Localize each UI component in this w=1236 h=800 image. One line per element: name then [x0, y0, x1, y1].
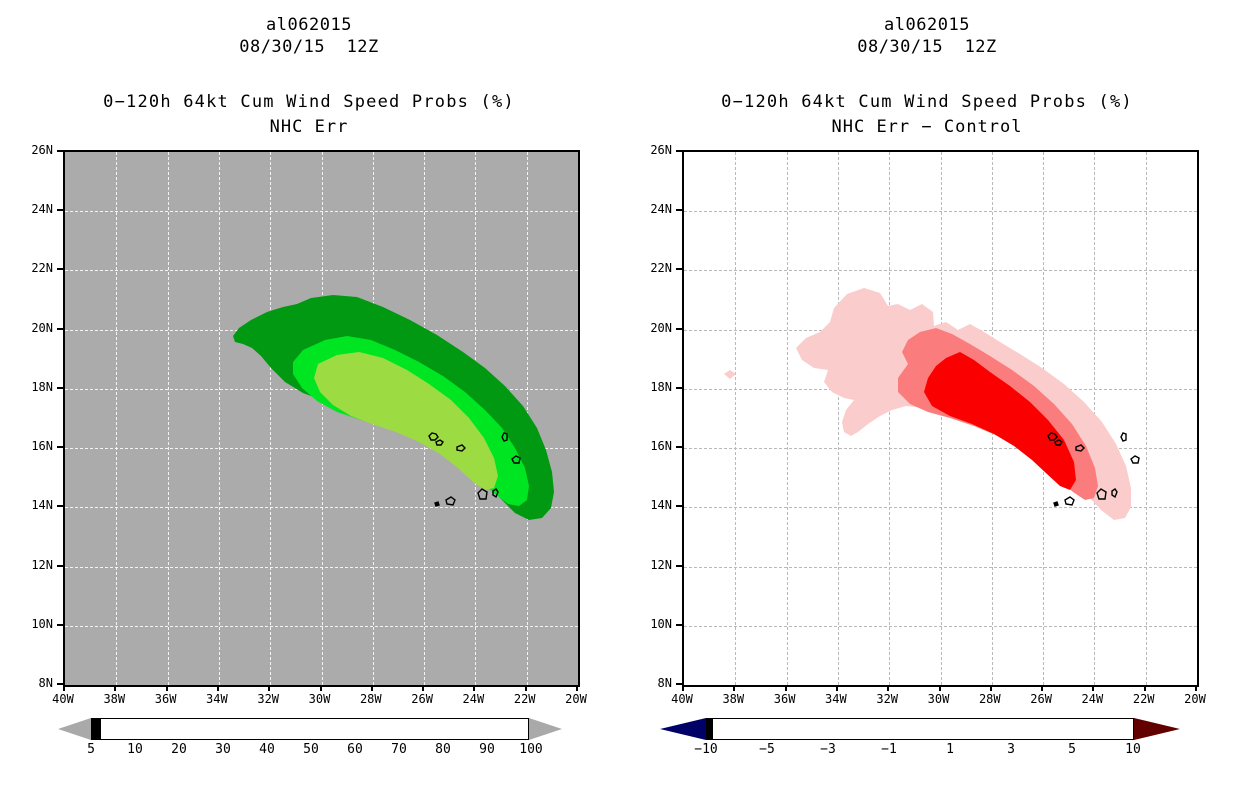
- tick-y: [676, 150, 682, 152]
- right-panel: al062015 08/30/15 12Z 0−120h 64kt Cum Wi…: [618, 0, 1236, 800]
- colorbar-tick-label: 70: [377, 742, 421, 757]
- difference-colorbar[interactable]: −10 −5 −3 −1 1 3 5 10: [654, 718, 1186, 764]
- tick-y: [57, 446, 63, 448]
- tick-x: [320, 685, 322, 691]
- y-tick-label: 10N: [13, 617, 53, 631]
- x-tick-label: 36W: [146, 692, 186, 706]
- left-panel-titles: al062015 08/30/15 12Z: [0, 14, 618, 58]
- tick-x: [166, 685, 168, 691]
- y-tick-label: 20N: [632, 321, 672, 335]
- y-tick-label: 10N: [632, 617, 672, 631]
- cape-verde-islands-outline: [65, 152, 578, 685]
- tick-x: [990, 685, 992, 691]
- tick-y: [676, 624, 682, 626]
- y-tick-label: 16N: [632, 439, 672, 453]
- colorbar-tick-label: 3: [989, 742, 1033, 757]
- tick-x: [887, 685, 889, 691]
- cape-verde-islands-outline: [684, 152, 1197, 685]
- left-sub-title: NHC Err: [0, 115, 618, 140]
- y-tick-label: 8N: [13, 676, 53, 690]
- right-datetime: 08/30/15 12Z: [618, 36, 1236, 58]
- tick-y: [57, 683, 63, 685]
- tick-y: [676, 209, 682, 211]
- x-tick-label: 34W: [197, 692, 237, 706]
- tick-x: [1092, 685, 1094, 691]
- y-tick-label: 26N: [632, 143, 672, 157]
- colorbar-tick-label: 40: [245, 742, 289, 757]
- colorbar-left-arrow: [660, 718, 706, 740]
- x-tick-label: 24W: [1072, 692, 1112, 706]
- x-tick-label: 30W: [300, 692, 340, 706]
- y-tick-label: 12N: [632, 558, 672, 572]
- tick-x: [836, 685, 838, 691]
- right-panel-heading: 0−120h 64kt Cum Wind Speed Probs (%) NHC…: [618, 90, 1236, 140]
- y-tick-label: 16N: [13, 439, 53, 453]
- x-tick-label: 26W: [402, 692, 442, 706]
- tick-x: [63, 685, 65, 691]
- tick-x: [733, 685, 735, 691]
- colorbar-tick-label: 10: [113, 742, 157, 757]
- tick-y: [676, 683, 682, 685]
- left-panel-heading: 0−120h 64kt Cum Wind Speed Probs (%) NHC…: [0, 90, 618, 140]
- y-tick-label: 24N: [13, 202, 53, 216]
- colorbar-tick-label: 30: [201, 742, 245, 757]
- tick-x: [1041, 685, 1043, 691]
- tick-x: [525, 685, 527, 691]
- colorbar-tick-label: 90: [465, 742, 509, 757]
- x-tick-label: 26W: [1021, 692, 1061, 706]
- colorbar-tick-label: 1: [928, 742, 972, 757]
- tick-x: [422, 685, 424, 691]
- colorbar-tick-label: 80: [421, 742, 465, 757]
- y-tick-label: 24N: [632, 202, 672, 216]
- x-tick-label: 38W: [713, 692, 753, 706]
- colorbar-tick-label: 20: [157, 742, 201, 757]
- x-tick-label: 30W: [919, 692, 959, 706]
- tick-y: [676, 387, 682, 389]
- y-tick-label: 14N: [13, 498, 53, 512]
- left-storm-id: al062015: [0, 14, 618, 36]
- tick-y: [676, 268, 682, 270]
- x-tick-label: 22W: [1124, 692, 1164, 706]
- tick-x: [576, 685, 578, 691]
- colorbar-tick-label: 100: [509, 742, 553, 757]
- x-tick-label: 28W: [351, 692, 391, 706]
- tick-y: [57, 565, 63, 567]
- tick-x: [785, 685, 787, 691]
- tick-x: [268, 685, 270, 691]
- colorbar-tick-label: −1: [867, 742, 911, 757]
- right-sub-title: NHC Err − Control: [618, 115, 1236, 140]
- colorbar-tick-label: 60: [333, 742, 377, 757]
- colorbar-swatch[interactable]: [712, 719, 713, 739]
- left-panel: al062015 08/30/15 12Z 0−120h 64kt Cum Wi…: [0, 0, 618, 800]
- tick-y: [676, 505, 682, 507]
- tick-y: [57, 624, 63, 626]
- right-main-title: 0−120h 64kt Cum Wind Speed Probs (%): [618, 90, 1236, 115]
- y-tick-label: 8N: [632, 676, 672, 690]
- x-tick-label: 32W: [867, 692, 907, 706]
- tick-x: [939, 685, 941, 691]
- tick-y: [57, 328, 63, 330]
- right-panel-titles: al062015 08/30/15 12Z: [618, 14, 1236, 58]
- tick-y: [676, 328, 682, 330]
- tick-y: [57, 150, 63, 152]
- x-tick-label: 34W: [816, 692, 856, 706]
- x-tick-label: 22W: [505, 692, 545, 706]
- colorbar-tick-label: −3: [806, 742, 850, 757]
- tick-x: [371, 685, 373, 691]
- tick-y: [57, 209, 63, 211]
- tick-y: [676, 565, 682, 567]
- y-tick-label: 18N: [13, 380, 53, 394]
- colorbar-tick-label: 10: [1111, 742, 1155, 757]
- x-tick-label: 40W: [662, 692, 702, 706]
- colorbar-right-arrow: [1134, 718, 1180, 740]
- tick-x: [1144, 685, 1146, 691]
- tick-x: [1195, 685, 1197, 691]
- x-tick-label: 40W: [43, 692, 83, 706]
- y-tick-label: 26N: [13, 143, 53, 157]
- colorbar-tick-label: 5: [1050, 742, 1094, 757]
- y-tick-label: 20N: [13, 321, 53, 335]
- y-tick-label: 12N: [13, 558, 53, 572]
- colorbar-swatch[interactable]: [100, 719, 101, 739]
- tick-y: [676, 446, 682, 448]
- colorbar-tick-label: 50: [289, 742, 333, 757]
- x-tick-label: 38W: [94, 692, 134, 706]
- tick-y: [57, 268, 63, 270]
- y-tick-label: 14N: [632, 498, 672, 512]
- x-tick-label: 36W: [765, 692, 805, 706]
- left-plot-area[interactable]: [63, 150, 580, 687]
- probability-colorbar[interactable]: 5 10 20 30 40 50 60 70 80 90 100: [50, 718, 570, 764]
- y-tick-label: 22N: [632, 261, 672, 275]
- colorbar-left-arrow: [58, 718, 91, 740]
- y-tick-label: 22N: [13, 261, 53, 275]
- x-tick-label: 24W: [453, 692, 493, 706]
- tick-y: [57, 505, 63, 507]
- colorbar-tick-label: −10: [684, 742, 728, 757]
- x-tick-label: 20W: [556, 692, 596, 706]
- right-storm-id: al062015: [618, 14, 1236, 36]
- left-main-title: 0−120h 64kt Cum Wind Speed Probs (%): [0, 90, 618, 115]
- colorbar-tick-label: 5: [69, 742, 113, 757]
- colorbar-right-arrow: [529, 718, 562, 740]
- tick-x: [682, 685, 684, 691]
- y-tick-label: 18N: [632, 380, 672, 394]
- right-plot-area[interactable]: [682, 150, 1199, 687]
- tick-x: [473, 685, 475, 691]
- x-tick-label: 32W: [248, 692, 288, 706]
- left-datetime: 08/30/15 12Z: [0, 36, 618, 58]
- tick-x: [114, 685, 116, 691]
- colorbar-tick-label: −5: [745, 742, 789, 757]
- x-tick-label: 20W: [1175, 692, 1215, 706]
- x-tick-label: 28W: [970, 692, 1010, 706]
- tick-x: [217, 685, 219, 691]
- tick-y: [57, 387, 63, 389]
